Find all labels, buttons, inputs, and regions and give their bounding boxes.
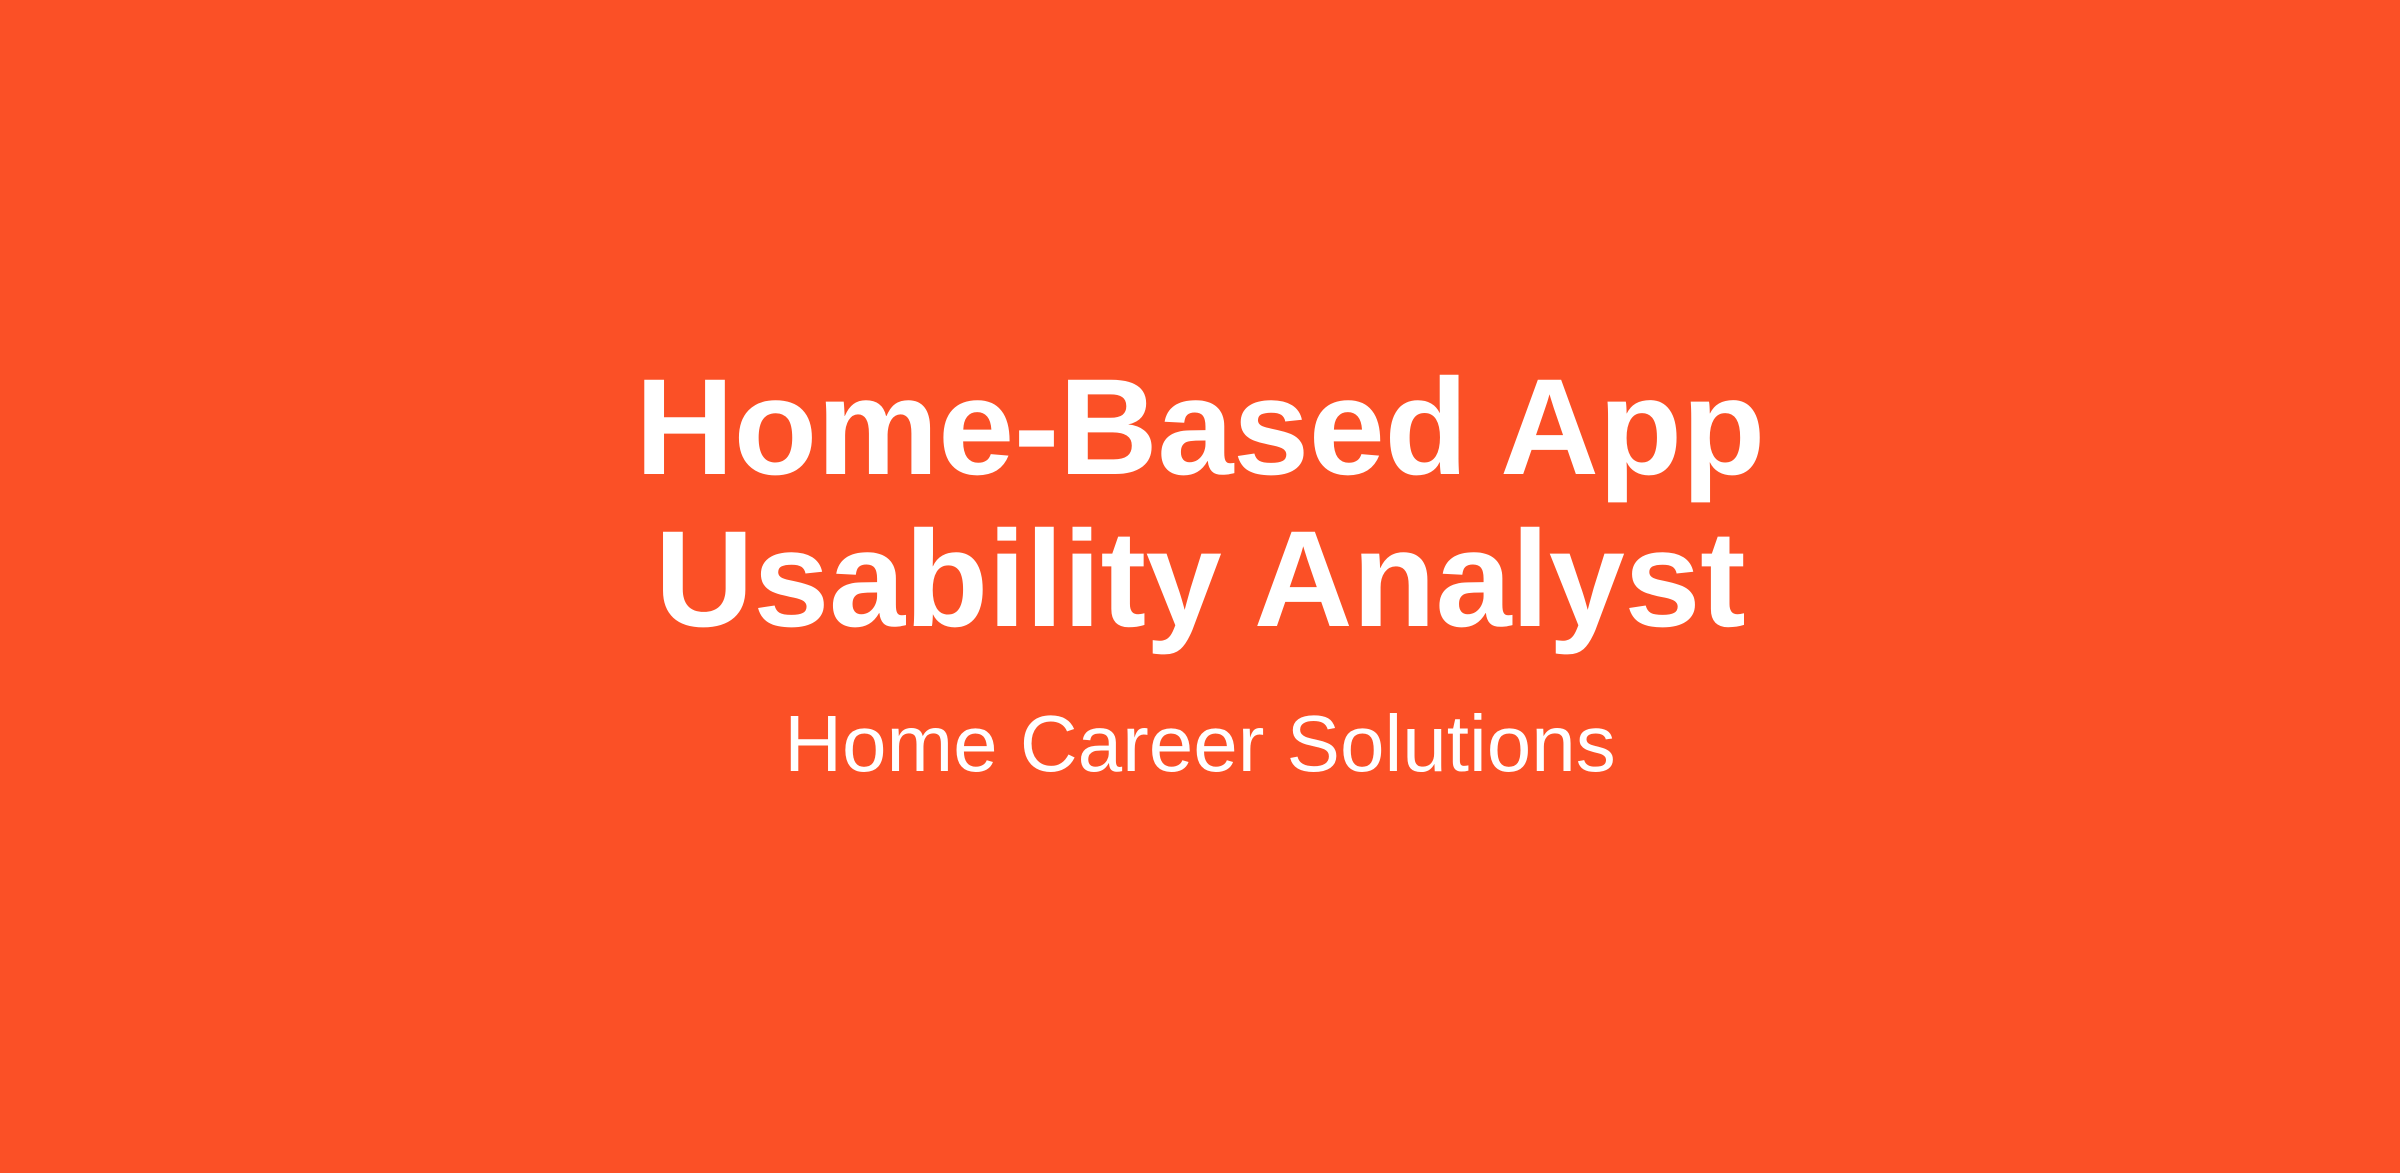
job-title: Home-Based App Usability Analyst xyxy=(380,352,2020,656)
company-name: Home Career Solutions xyxy=(380,698,2020,790)
job-hero-card: Home-Based App Usability Analyst Home Ca… xyxy=(0,0,2400,1173)
hero-content: Home-Based App Usability Analyst Home Ca… xyxy=(370,352,2030,790)
